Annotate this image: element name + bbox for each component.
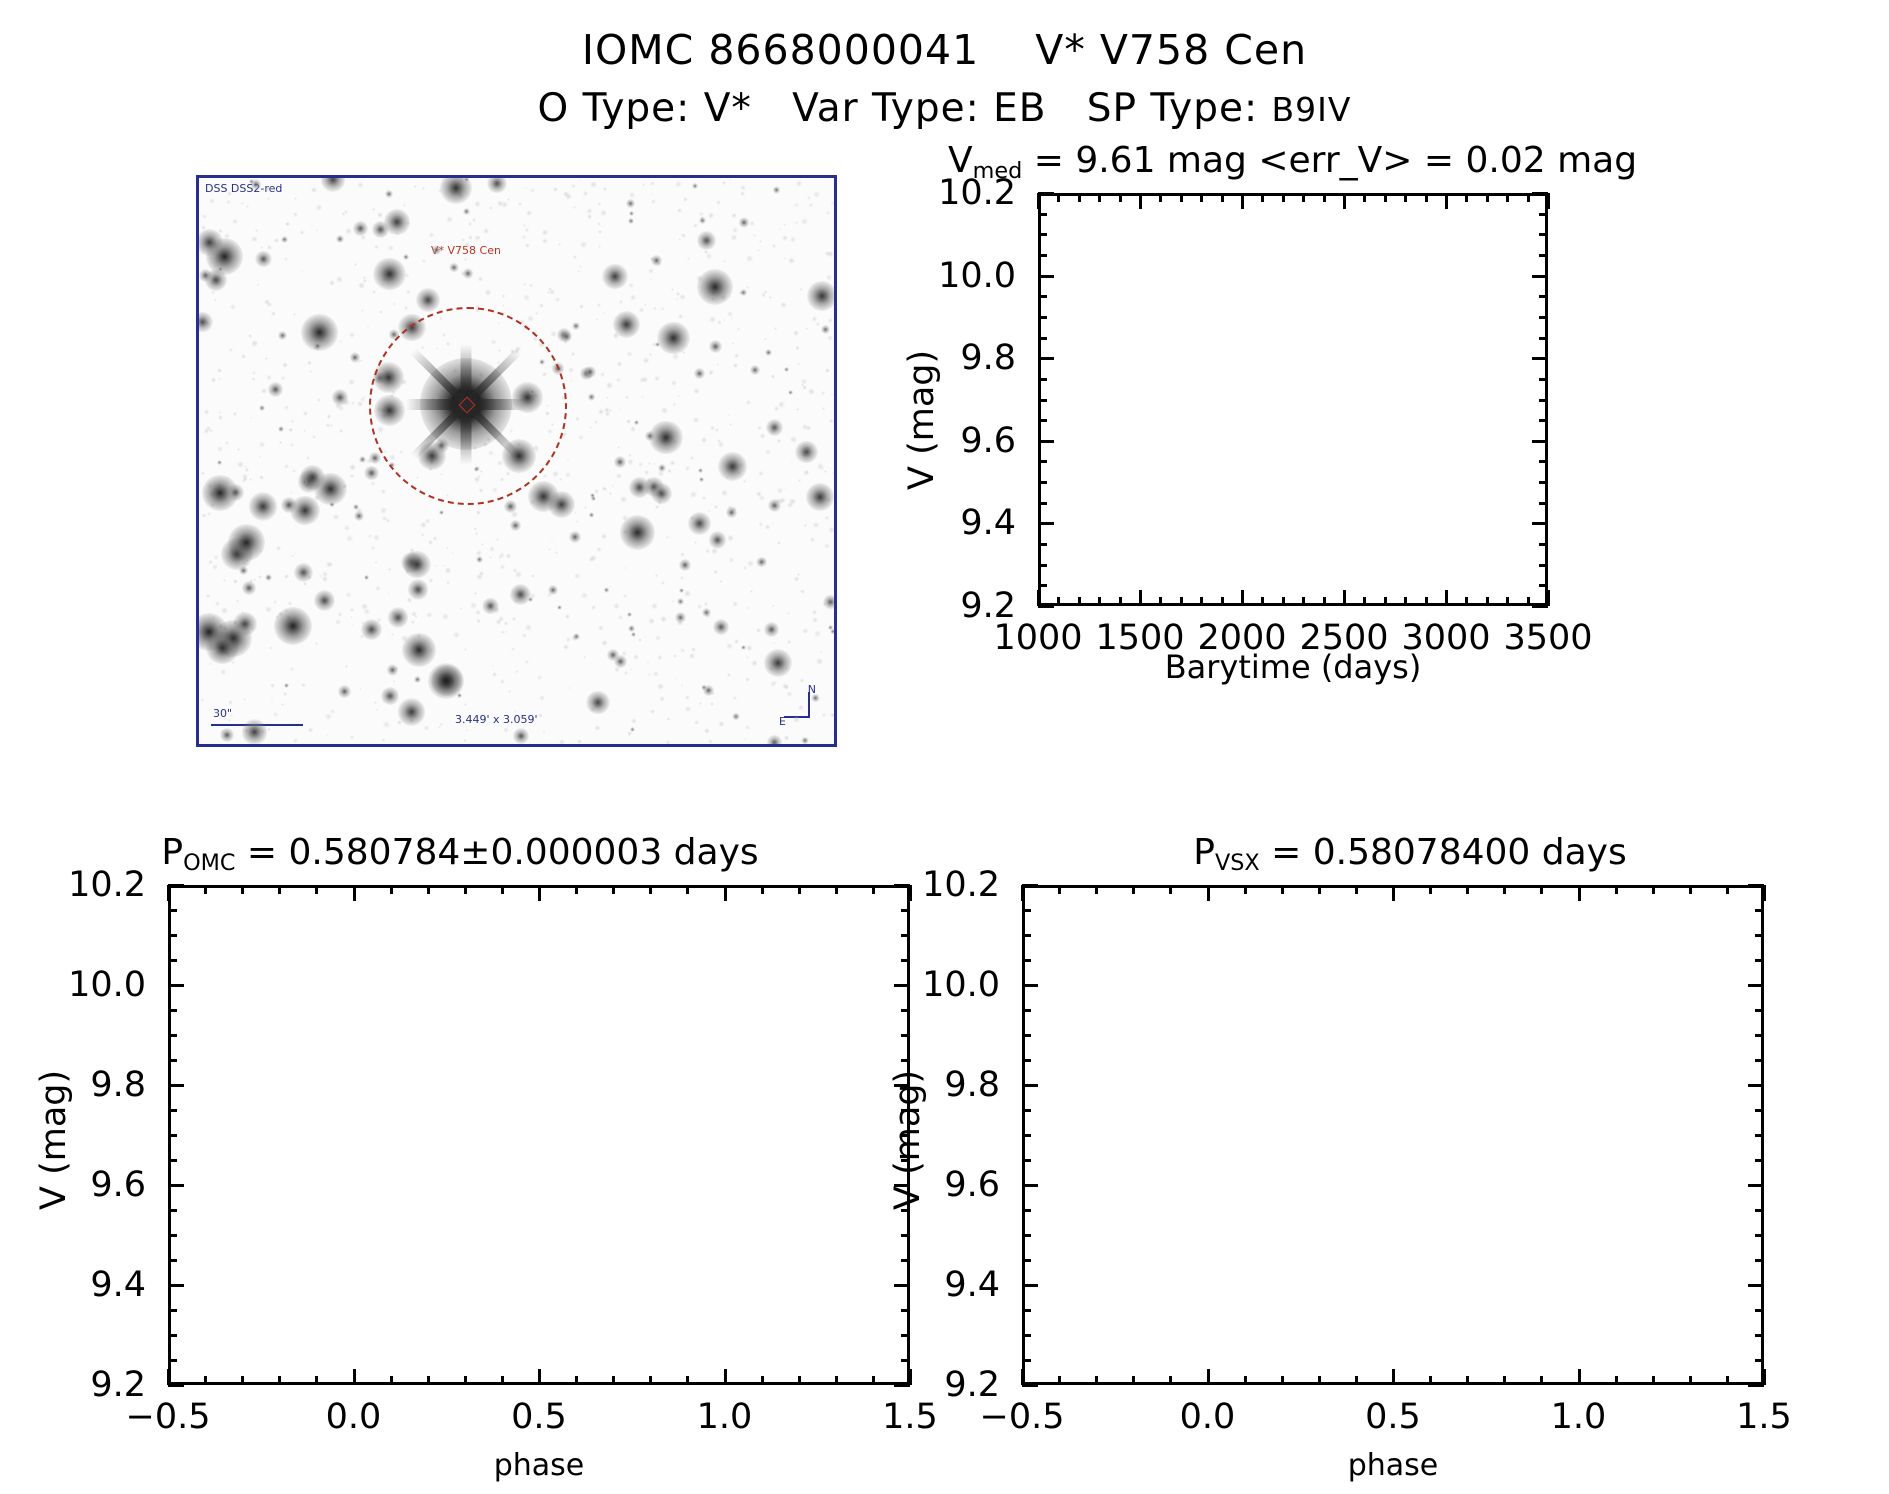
field-star: [657, 322, 690, 355]
x-minor-tick: [761, 1376, 764, 1385]
y-major-tick: [1748, 1384, 1764, 1387]
background-noise: [220, 669, 226, 675]
field-star: [602, 264, 628, 290]
background-noise: [377, 671, 379, 673]
background-noise: [577, 270, 580, 273]
background-noise: [604, 487, 608, 491]
background-noise: [716, 200, 721, 205]
field-star: [528, 481, 559, 512]
background-noise: [208, 560, 212, 564]
background-noise: [673, 403, 677, 407]
background-noise: [743, 566, 747, 570]
field-star: [677, 598, 684, 605]
background-noise: [229, 348, 234, 353]
y-minor-tick: [1755, 1159, 1764, 1162]
background-noise: [371, 546, 375, 550]
background-noise: [661, 307, 665, 311]
background-noise: [825, 251, 830, 256]
background-noise: [259, 441, 265, 447]
field-star: [398, 698, 426, 726]
background-noise: [283, 692, 287, 696]
background-noise: [638, 462, 643, 467]
background-noise: [523, 283, 526, 286]
background-noise: [586, 208, 592, 214]
y-minor-tick: [168, 1259, 177, 1262]
x-minor-tick: [1078, 597, 1081, 606]
vmed-value-text: = 9.61 mag <err_V> = 0.02 mag: [1022, 140, 1637, 181]
y-minor-tick: [1038, 481, 1047, 484]
background-noise: [584, 506, 587, 509]
background-noise: [271, 311, 275, 315]
background-noise: [801, 378, 807, 384]
background-noise: [770, 681, 776, 687]
x-minor-tick: [761, 885, 764, 894]
background-noise: [345, 228, 352, 235]
x-minor-tick: [872, 1376, 875, 1385]
field-star: [233, 612, 257, 636]
x-minor-tick: [1540, 1376, 1543, 1385]
field-star: [795, 441, 817, 463]
y-minor-tick: [1022, 959, 1031, 962]
background-noise: [388, 593, 390, 595]
x-minor-tick: [1465, 597, 1468, 606]
x-minor-tick: [1503, 885, 1506, 894]
background-noise: [504, 621, 509, 626]
barytime-axis-label: Barytime (days): [1038, 648, 1548, 686]
background-noise: [357, 182, 363, 188]
background-noise: [833, 545, 837, 551]
x-tick-label: 1.0: [697, 1397, 753, 1437]
background-noise: [290, 443, 293, 446]
phase-omc-panel-title: POMC = 0.580784±0.000003 days: [110, 832, 810, 876]
field-star: [359, 456, 366, 463]
x-minor-tick: [612, 1376, 615, 1385]
phase-vsx-axis-label: phase: [1022, 1448, 1764, 1483]
field-star: [739, 217, 750, 228]
background-noise: [308, 727, 314, 733]
background-noise: [463, 739, 467, 743]
background-noise: [372, 290, 376, 294]
background-noise: [598, 202, 601, 205]
background-noise: [267, 728, 270, 731]
field-star: [510, 520, 521, 531]
background-noise: [816, 658, 823, 665]
background-noise: [772, 244, 776, 248]
y-minor-tick: [168, 1034, 177, 1037]
background-noise: [523, 224, 526, 227]
background-noise: [391, 633, 394, 636]
x-minor-tick: [1057, 597, 1060, 606]
y-tick-label: 9.6: [960, 421, 1016, 461]
background-noise: [827, 335, 833, 341]
background-noise: [207, 512, 211, 516]
field-star: [629, 211, 634, 216]
background-noise: [772, 522, 775, 525]
field-star: [249, 492, 277, 520]
background-noise: [300, 230, 304, 234]
background-noise: [765, 449, 771, 455]
background-noise: [628, 454, 631, 457]
x-major-tick: [1207, 1369, 1210, 1385]
x-minor-tick: [1465, 193, 1468, 202]
background-noise: [627, 351, 633, 357]
background-noise: [255, 229, 258, 232]
field-star: [373, 258, 406, 291]
background-noise: [530, 188, 535, 193]
background-noise: [501, 201, 508, 208]
y-major-tick: [1532, 192, 1548, 195]
background-noise: [694, 541, 697, 544]
x-minor-tick: [575, 885, 578, 894]
background-noise: [598, 625, 604, 631]
background-noise: [271, 700, 273, 702]
background-noise: [506, 553, 512, 559]
background-noise: [642, 183, 645, 186]
background-noise: [606, 397, 608, 399]
background-noise: [307, 361, 312, 366]
background-noise: [571, 352, 575, 356]
x-minor-tick: [1384, 597, 1387, 606]
y-minor-tick: [901, 1359, 910, 1362]
background-noise: [553, 187, 558, 192]
field-star: [589, 512, 594, 517]
background-noise: [681, 684, 683, 686]
background-noise: [563, 191, 569, 197]
y-major-tick: [1022, 1184, 1038, 1187]
field-star: [268, 382, 283, 397]
background-noise: [802, 628, 809, 635]
background-noise: [723, 319, 725, 321]
background-noise: [795, 346, 800, 351]
background-noise: [326, 561, 333, 568]
background-noise: [288, 601, 293, 606]
field-star: [801, 737, 808, 744]
background-noise: [704, 602, 708, 606]
x-major-tick: [538, 1369, 541, 1385]
field-star: [651, 255, 662, 266]
background-noise: [499, 552, 505, 558]
field-star: [768, 499, 781, 512]
background-noise: [411, 620, 416, 625]
background-noise: [527, 315, 533, 321]
background-noise: [241, 202, 244, 205]
x-minor-tick: [464, 885, 467, 894]
background-noise: [694, 720, 698, 724]
background-noise: [603, 187, 607, 191]
background-noise: [502, 304, 505, 307]
background-noise: [596, 318, 599, 321]
background-noise: [573, 206, 576, 209]
field-star: [821, 325, 830, 334]
background-noise: [746, 645, 752, 651]
background-noise: [825, 368, 830, 373]
background-noise: [374, 245, 378, 249]
background-noise: [616, 378, 620, 382]
x-minor-tick: [1281, 1376, 1284, 1385]
background-noise: [227, 191, 232, 196]
background-noise: [797, 363, 800, 366]
y-tick-label: 10.2: [922, 865, 1000, 905]
background-noise: [661, 581, 665, 585]
background-noise: [461, 238, 464, 241]
background-noise: [543, 474, 547, 478]
y-minor-tick: [1755, 909, 1764, 912]
y-minor-tick: [1539, 316, 1548, 319]
background-noise: [284, 464, 289, 469]
background-noise: [382, 738, 385, 741]
background-noise: [655, 574, 658, 577]
time-series-panel-title: Vmed = 9.61 mag <err_V> = 0.02 mag: [948, 140, 1608, 184]
y-tick-label: 9.4: [90, 1265, 146, 1305]
y-tick-label: 9.6: [944, 1165, 1000, 1205]
y-minor-tick: [1755, 1034, 1764, 1037]
x-minor-tick: [501, 885, 504, 894]
field-star: [217, 460, 222, 465]
field-star: [278, 331, 286, 339]
background-noise: [531, 574, 535, 578]
background-noise: [804, 524, 807, 527]
x-minor-tick: [1261, 193, 1264, 202]
x-minor-tick: [1615, 1376, 1618, 1385]
background-noise: [648, 618, 655, 625]
field-star: [220, 728, 234, 742]
y-major-tick: [1748, 984, 1764, 987]
background-noise: [650, 181, 655, 186]
x-minor-tick: [501, 1376, 504, 1385]
background-noise: [279, 441, 282, 444]
background-noise: [354, 263, 357, 266]
background-noise: [731, 317, 733, 319]
background-noise: [269, 646, 272, 649]
field-star: [718, 452, 747, 481]
background-noise: [757, 426, 762, 431]
x-major-tick: [1392, 1369, 1395, 1385]
background-noise: [777, 541, 781, 545]
field-star: [788, 390, 793, 395]
background-noise: [687, 257, 689, 259]
x-major-tick: [353, 885, 356, 901]
background-noise: [721, 490, 728, 497]
background-noise: [250, 417, 252, 419]
x-minor-tick: [1506, 597, 1509, 606]
background-noise: [691, 647, 695, 651]
x-major-tick: [1445, 193, 1448, 209]
background-noise: [571, 184, 575, 188]
background-noise: [276, 546, 280, 550]
y-major-tick: [168, 984, 184, 987]
x-minor-tick: [1221, 597, 1224, 606]
y-minor-tick: [1539, 460, 1548, 463]
y-minor-tick: [1755, 1309, 1764, 1312]
background-noise: [349, 464, 356, 471]
background-noise: [464, 242, 470, 248]
x-tick-label: 1.0: [1551, 1397, 1607, 1437]
background-noise: [303, 582, 307, 586]
background-noise: [732, 601, 738, 607]
field-star: [364, 575, 370, 581]
background-noise: [425, 518, 431, 524]
phase-omc-axis-label: phase: [168, 1448, 910, 1483]
background-noise: [693, 417, 699, 423]
y-minor-tick: [168, 1009, 177, 1012]
background-noise: [729, 179, 731, 181]
background-noise: [309, 370, 312, 373]
background-noise: [291, 555, 294, 558]
x-minor-tick: [1098, 193, 1101, 202]
phase-vsx-frame: [1022, 885, 1764, 1385]
background-noise: [710, 702, 714, 706]
background-noise: [428, 540, 433, 545]
background-noise: [732, 342, 735, 345]
background-noise: [651, 199, 656, 204]
background-noise: [424, 725, 429, 730]
x-minor-tick: [1221, 193, 1224, 202]
background-noise: [638, 638, 641, 641]
field-star: [628, 218, 634, 224]
background-noise: [794, 203, 799, 208]
x-major-tick: [1021, 885, 1024, 901]
y-tick-label: 9.6: [90, 1165, 146, 1205]
background-noise: [760, 433, 765, 438]
background-noise: [230, 714, 233, 717]
background-noise: [750, 590, 753, 593]
x-major-tick: [1037, 590, 1040, 606]
field-star: [740, 289, 747, 296]
background-noise: [573, 255, 576, 258]
background-noise: [773, 642, 775, 644]
background-noise: [325, 713, 332, 720]
x-minor-tick: [390, 885, 393, 894]
background-noise: [257, 283, 259, 285]
phase-vsx-plot: [1022, 885, 1764, 1385]
background-noise: [756, 628, 761, 633]
background-noise: [372, 208, 375, 211]
background-noise: [267, 245, 272, 250]
x-minor-tick: [1425, 193, 1428, 202]
x-minor-tick: [1132, 885, 1135, 894]
background-noise: [202, 214, 207, 219]
y-major-tick: [1038, 275, 1054, 278]
y-minor-tick: [1022, 1059, 1031, 1062]
phase-omc-plot: [168, 885, 910, 1385]
background-noise: [787, 502, 794, 509]
background-noise: [816, 322, 819, 325]
x-major-tick: [1241, 193, 1244, 209]
x-minor-tick: [649, 885, 652, 894]
background-noise: [617, 446, 620, 449]
x-minor-tick: [1384, 193, 1387, 202]
background-noise: [624, 671, 628, 675]
background-noise: [683, 197, 688, 202]
x-minor-tick: [1466, 885, 1469, 894]
background-noise: [253, 744, 256, 747]
background-noise: [653, 671, 659, 677]
y-tick-label: 10.2: [938, 173, 1016, 213]
field-star: [196, 229, 223, 256]
background-noise: [265, 357, 268, 360]
background-noise: [549, 289, 555, 295]
background-noise: [218, 378, 220, 380]
background-noise: [650, 278, 653, 281]
x-major-tick: [1392, 885, 1395, 901]
y-major-tick: [168, 884, 184, 887]
field-star: [634, 420, 639, 425]
background-noise: [382, 516, 387, 521]
background-noise: [639, 307, 645, 313]
background-noise: [791, 461, 793, 463]
background-noise: [708, 739, 713, 744]
field-star: [572, 322, 580, 330]
background-noise: [597, 303, 601, 307]
background-noise: [251, 340, 258, 347]
background-noise: [832, 730, 837, 737]
y-minor-tick: [1755, 1109, 1764, 1112]
background-noise: [500, 564, 506, 570]
background-noise: [648, 268, 654, 274]
background-noise: [330, 424, 333, 427]
background-noise: [800, 589, 805, 594]
background-noise: [746, 255, 753, 262]
background-noise: [526, 210, 532, 216]
background-noise: [798, 705, 804, 711]
background-noise: [508, 690, 511, 693]
field-star: [655, 342, 660, 347]
background-noise: [653, 307, 657, 311]
x-minor-tick: [1200, 597, 1203, 606]
field-star: [387, 664, 398, 675]
x-major-tick: [909, 885, 912, 901]
x-minor-tick: [1363, 193, 1366, 202]
background-noise: [708, 370, 713, 375]
y-minor-tick: [168, 1159, 177, 1162]
y-minor-tick: [168, 1234, 177, 1237]
y-major-tick: [894, 1284, 910, 1287]
background-noise: [212, 564, 217, 569]
y-major-tick: [1038, 440, 1054, 443]
x-minor-tick: [1429, 1376, 1432, 1385]
x-tick-label: 1.5: [882, 1397, 938, 1437]
field-star: [586, 691, 610, 715]
background-noise: [335, 619, 341, 625]
background-noise: [311, 187, 317, 193]
background-noise: [374, 701, 377, 704]
background-noise: [474, 201, 481, 208]
x-minor-tick: [1318, 1376, 1321, 1385]
background-noise: [793, 716, 800, 723]
background-noise: [757, 249, 760, 252]
y-minor-tick: [168, 1134, 177, 1137]
x-minor-tick: [1169, 1376, 1172, 1385]
background-noise: [422, 259, 427, 264]
background-noise: [666, 536, 669, 539]
background-noise: [681, 233, 685, 237]
x-minor-tick: [1132, 1376, 1135, 1385]
background-noise: [535, 312, 538, 315]
y-tick-label: 10.2: [68, 865, 146, 905]
y-tick-label: 9.2: [90, 1365, 146, 1405]
background-noise: [228, 719, 231, 722]
background-noise: [702, 496, 706, 500]
y-major-tick: [894, 884, 910, 887]
x-major-tick: [1343, 590, 1346, 606]
background-noise: [446, 581, 449, 584]
x-minor-tick: [1119, 597, 1122, 606]
background-noise: [619, 409, 621, 411]
y-major-tick: [1038, 357, 1054, 360]
background-noise: [236, 599, 240, 603]
x-minor-tick: [1159, 597, 1162, 606]
background-noise: [577, 487, 579, 489]
